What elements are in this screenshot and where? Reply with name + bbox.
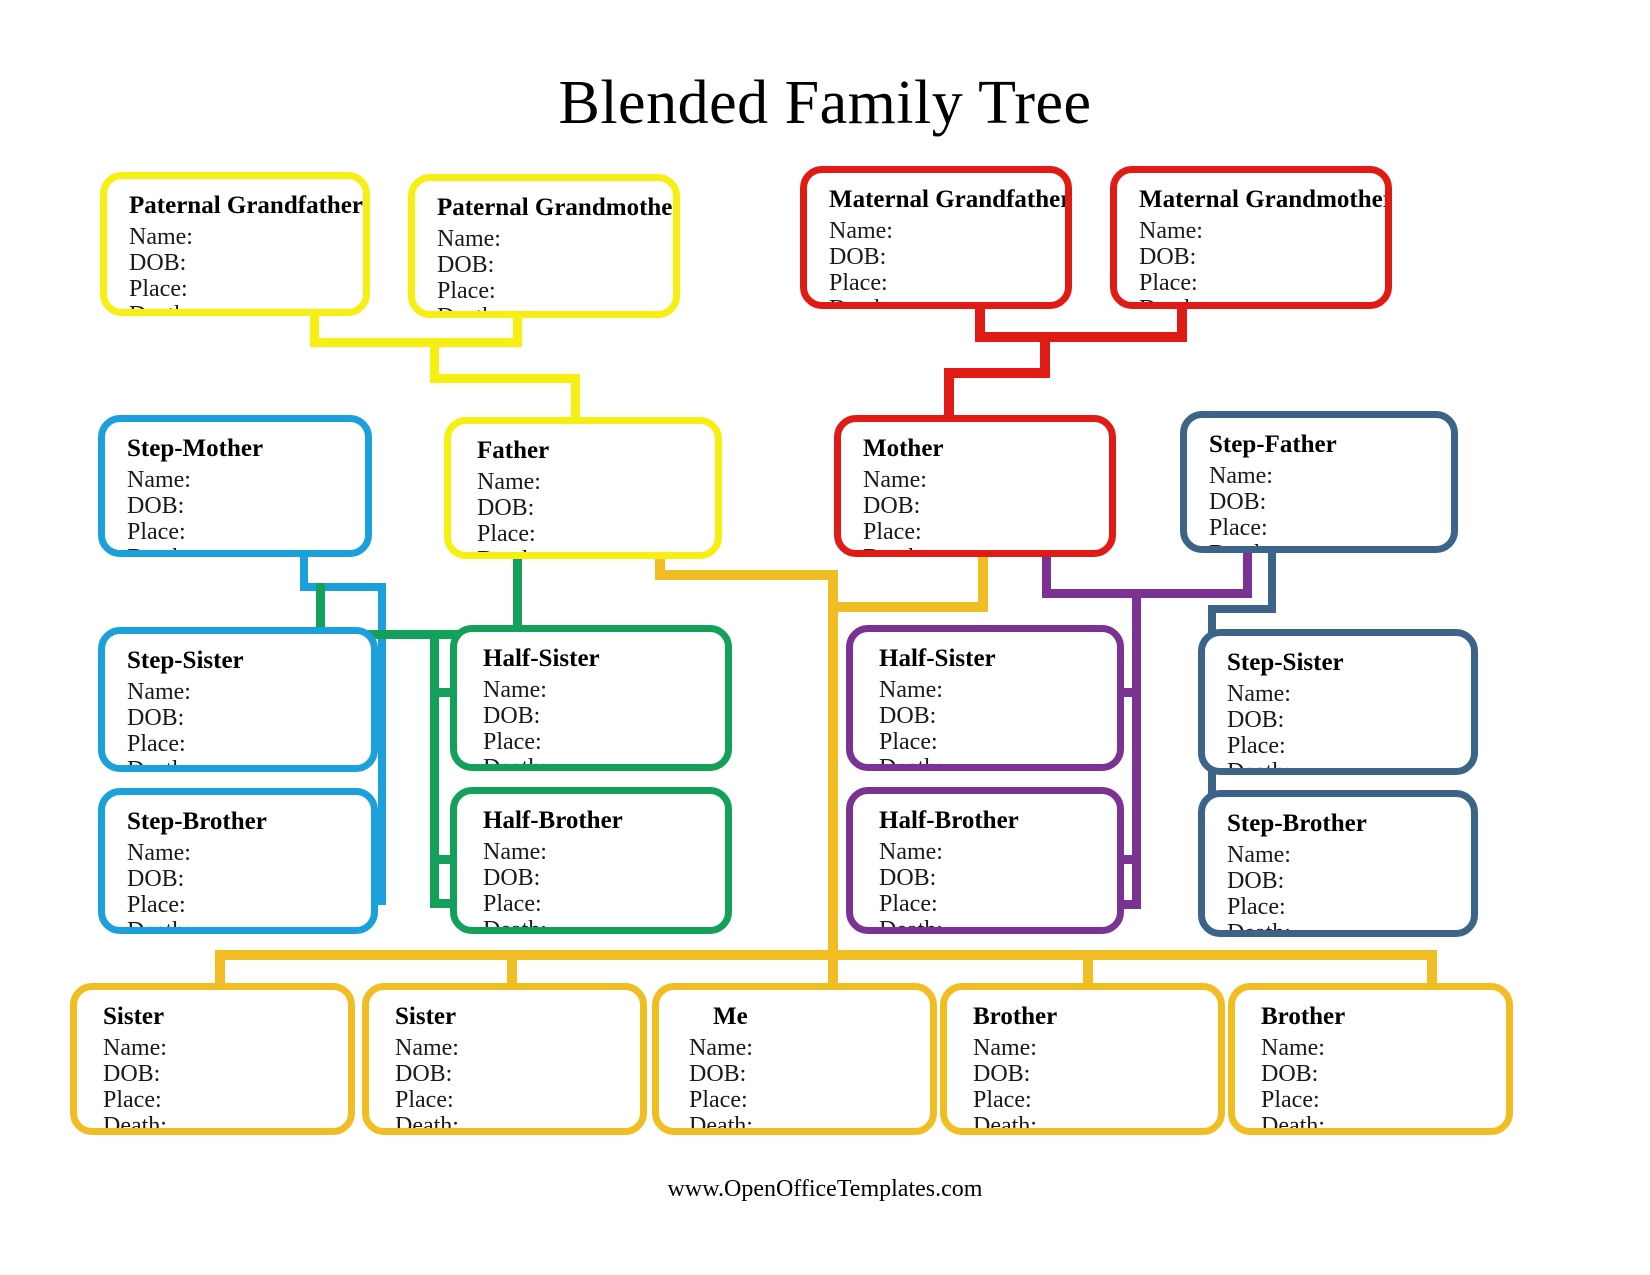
field-name: Name: — [829, 219, 1065, 245]
field-dob: DOB: — [477, 496, 715, 522]
card-sibling-me[interactable]: Me Name: DOB: Place: Death: — [652, 983, 937, 1135]
field-death: Death: — [879, 918, 1117, 934]
card-title: Brother — [1261, 1004, 1506, 1029]
field-name: Name: — [879, 840, 1117, 866]
field-dob: DOB: — [127, 494, 365, 520]
card-step-mother[interactable]: Step-Mother Name: DOB: Place: Death: — [98, 415, 372, 557]
field-name: Name: — [127, 468, 365, 494]
card-father[interactable]: Father Name: DOB: Place: Death: — [444, 417, 722, 559]
field-death: Death: — [127, 758, 371, 772]
field-name: Name: — [1139, 219, 1385, 245]
card-step-sister-right[interactable]: Step-Sister Name: DOB: Place: Death: — [1198, 629, 1478, 775]
field-dob: DOB: — [127, 706, 371, 732]
connector-paternal-couple-bar — [310, 338, 522, 347]
card-title: Brother — [973, 1004, 1218, 1029]
card-title: Step-Sister — [127, 648, 371, 673]
card-sibling-brother-1[interactable]: Brother Name: DOB: Place: Death: — [940, 983, 1225, 1135]
card-title: Step-Father — [1209, 432, 1451, 457]
page-title: Blended Family Tree — [0, 68, 1650, 139]
field-name: Name: — [1227, 682, 1471, 708]
card-half-brother-right[interactable]: Half-Brother Name: DOB: Place: Death: — [846, 787, 1124, 934]
field-place: Place: — [483, 730, 725, 756]
field-place: Place: — [1209, 516, 1451, 542]
connector-stepfather-bar — [1208, 605, 1276, 613]
card-mother[interactable]: Mother Name: DOB: Place: Death: — [834, 415, 1116, 557]
card-title: Half-Sister — [483, 646, 725, 671]
card-step-sister-left[interactable]: Step-Sister Name: DOB: Place: Death: — [98, 627, 378, 772]
field-place: Place: — [1227, 734, 1471, 760]
field-death: Death: — [395, 1114, 640, 1135]
card-half-brother-left[interactable]: Half-Brother Name: DOB: Place: Death: — [450, 787, 732, 934]
card-title: Sister — [103, 1004, 348, 1029]
field-dob: DOB: — [863, 494, 1109, 520]
connector-maternal-mid-drop — [1040, 332, 1050, 372]
connector-halfpurple-bar — [1042, 589, 1252, 598]
field-name: Name: — [863, 468, 1109, 494]
field-dob: DOB: — [829, 245, 1065, 271]
field-place: Place: — [395, 1088, 640, 1114]
field-name: Name: — [103, 1036, 348, 1062]
field-dob: DOB: — [483, 866, 725, 892]
field-death: Death: — [829, 297, 1065, 309]
field-name: Name: — [1227, 843, 1471, 869]
field-place: Place: — [127, 893, 371, 919]
field-death: Death: — [973, 1114, 1218, 1135]
field-place: Place: — [477, 522, 715, 548]
field-dob: DOB: — [879, 704, 1117, 730]
field-death: Death: — [863, 546, 1109, 557]
connector-siblings-horizontal-bus — [215, 950, 1437, 960]
field-dob: DOB: — [103, 1062, 348, 1088]
connector-siblings-main-drop — [828, 570, 838, 990]
connector-maternal-mother-drop — [944, 368, 954, 420]
connector-maternal-couple-bar — [975, 332, 1187, 342]
field-death: Death: — [483, 756, 725, 771]
field-death: Death: — [129, 303, 363, 316]
card-title: Step-Brother — [127, 809, 371, 834]
field-name: Name: — [1209, 464, 1451, 490]
field-name: Name: — [973, 1036, 1218, 1062]
card-title: Maternal Grandmother — [1139, 187, 1385, 212]
field-dob: DOB: — [395, 1062, 640, 1088]
field-death: Death: — [483, 918, 725, 934]
field-dob: DOB: — [437, 253, 673, 279]
footer-website: www.OpenOfficeTemplates.com — [0, 1176, 1650, 1203]
field-place: Place: — [127, 732, 371, 758]
field-name: Name: — [1261, 1036, 1506, 1062]
connector-paternal-mid-drop — [430, 338, 439, 378]
field-name: Name: — [477, 470, 715, 496]
field-name: Name: — [127, 680, 371, 706]
field-name: Name: — [689, 1036, 930, 1062]
field-death: Death: — [127, 919, 371, 934]
field-place: Place: — [879, 892, 1117, 918]
field-place: Place: — [1261, 1088, 1506, 1114]
card-title: Step-Brother — [1227, 811, 1471, 836]
field-death: Death: — [477, 548, 715, 559]
field-name: Name: — [483, 678, 725, 704]
field-name: Name: — [879, 678, 1117, 704]
card-title: Maternal Grandfather — [829, 187, 1065, 212]
card-title: Half-Brother — [879, 808, 1117, 833]
card-title: Sister — [395, 1004, 640, 1029]
field-dob: DOB: — [689, 1062, 930, 1088]
card-maternal-grandmother[interactable]: Maternal Grandmother Name: DOB: Place: D… — [1110, 166, 1392, 309]
field-place: Place: — [1139, 271, 1385, 297]
card-title: Paternal Grandmother — [437, 195, 673, 220]
field-place: Place: — [129, 277, 363, 303]
card-title: Me — [689, 1004, 930, 1029]
field-death: Death: — [1227, 760, 1471, 775]
field-death: Death: — [127, 546, 365, 557]
field-place: Place: — [973, 1088, 1218, 1114]
card-title: Step-Sister — [1227, 650, 1471, 675]
field-place: Place: — [1227, 895, 1471, 921]
field-place: Place: — [689, 1088, 930, 1114]
field-name: Name: — [437, 227, 673, 253]
connector-father-to-bus — [655, 570, 838, 580]
field-dob: DOB: — [483, 704, 725, 730]
field-place: Place: — [483, 892, 725, 918]
field-death: Death: — [689, 1114, 930, 1135]
card-sibling-brother-2[interactable]: Brother Name: DOB: Place: Death: — [1228, 983, 1513, 1135]
connector-stepmother-bar — [300, 583, 386, 591]
card-sibling-sister-2[interactable]: Sister Name: DOB: Place: Death: — [362, 983, 647, 1135]
connector-maternal-to-mother-bar — [944, 368, 1050, 378]
field-death: Death: — [103, 1114, 348, 1135]
connector-halfgreen-spine — [430, 630, 439, 908]
card-half-sister-right[interactable]: Half-Sister Name: DOB: Place: Death: — [846, 625, 1124, 771]
card-step-brother-right[interactable]: Step-Brother Name: DOB: Place: Death: — [1198, 790, 1478, 937]
card-paternal-grandfather[interactable]: Paternal Grandfather Name: DOB: Place: D… — [100, 172, 370, 316]
field-death: Death: — [437, 305, 673, 318]
card-paternal-grandmother[interactable]: Paternal Grandmother Name: DOB: Place: D… — [408, 174, 680, 318]
card-title: Step-Mother — [127, 436, 365, 461]
field-dob: DOB: — [1261, 1062, 1506, 1088]
card-sibling-sister-1[interactable]: Sister Name: DOB: Place: Death: — [70, 983, 355, 1135]
card-title: Mother — [863, 436, 1109, 461]
family-tree-page: Blended Family Tree — [0, 0, 1650, 1275]
connector-mother-bus-drop — [978, 552, 988, 610]
field-dob: DOB: — [1227, 708, 1471, 734]
field-name: Name: — [127, 841, 371, 867]
field-name: Name: — [129, 225, 363, 251]
card-title: Paternal Grandfather — [129, 193, 363, 218]
card-half-sister-left[interactable]: Half-Sister Name: DOB: Place: Death: — [450, 625, 732, 771]
field-death: Death: — [1261, 1114, 1506, 1135]
card-title: Half-Sister — [879, 646, 1117, 671]
field-place: Place: — [437, 279, 673, 305]
field-dob: DOB: — [127, 867, 371, 893]
field-place: Place: — [829, 271, 1065, 297]
connector-paternal-to-father-bar — [430, 374, 580, 383]
field-dob: DOB: — [973, 1062, 1218, 1088]
field-death: Death: — [1227, 921, 1471, 937]
connector-mother-to-bus — [828, 602, 988, 612]
card-step-father[interactable]: Step-Father Name: DOB: Place: Death: — [1180, 411, 1458, 553]
field-death: Death: — [1209, 542, 1451, 553]
card-maternal-grandfather[interactable]: Maternal Grandfather Name: DOB: Place: D… — [800, 166, 1072, 309]
field-dob: DOB: — [1139, 245, 1385, 271]
card-step-brother-left[interactable]: Step-Brother Name: DOB: Place: Death: — [98, 788, 378, 934]
field-place: Place: — [103, 1088, 348, 1114]
field-place: Place: — [879, 730, 1117, 756]
card-title: Father — [477, 438, 715, 463]
card-title: Half-Brother — [483, 808, 725, 833]
field-place: Place: — [127, 520, 365, 546]
field-dob: DOB: — [1209, 490, 1451, 516]
field-name: Name: — [483, 840, 725, 866]
field-name: Name: — [395, 1036, 640, 1062]
field-dob: DOB: — [879, 866, 1117, 892]
field-death: Death: — [1139, 297, 1385, 309]
field-dob: DOB: — [1227, 869, 1471, 895]
field-place: Place: — [863, 520, 1109, 546]
field-death: Death: — [879, 756, 1117, 771]
connector-paternal-father-drop — [571, 374, 580, 422]
field-dob: DOB: — [129, 251, 363, 277]
connector-stepfather-drop — [1268, 552, 1276, 612]
